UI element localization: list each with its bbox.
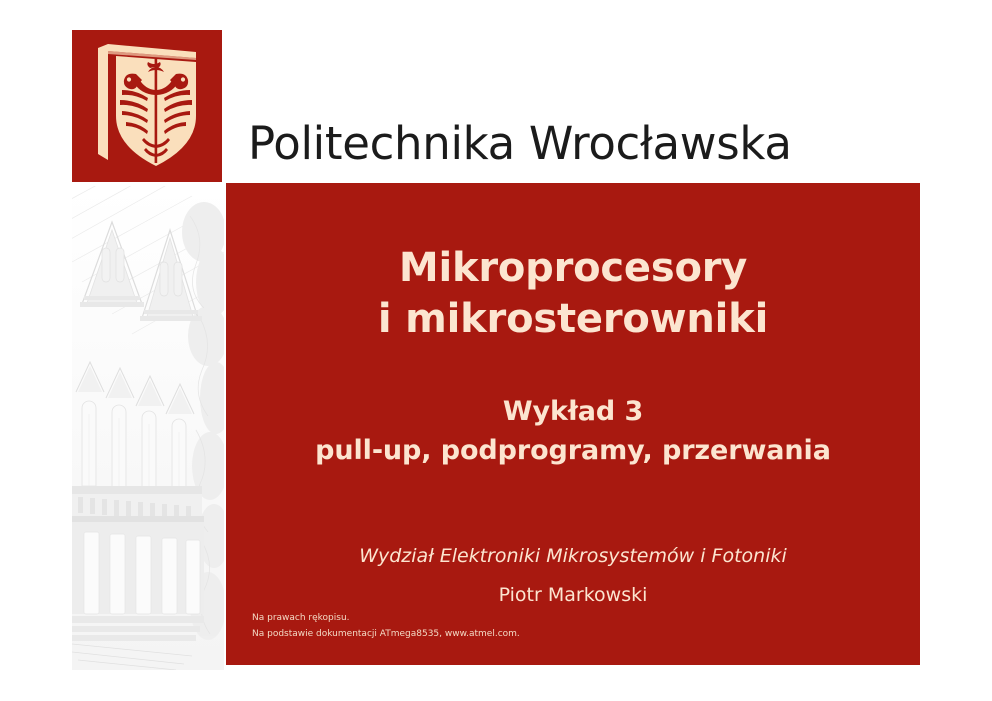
slide-content-panel: Mikroprocesory i mikrosterowniki Wykład … — [226, 183, 920, 665]
lecture-number: Wykład 3 — [226, 393, 920, 432]
slide-credits: Wydział Elektroniki Mikrosystemów i Foto… — [226, 545, 920, 607]
lecture-topics: pull-up, podprogramy, przerwania — [226, 432, 920, 471]
slide-subtitle: Wykład 3 pull-up, podprogramy, przerwani… — [226, 393, 920, 470]
presentation-slide: Politechnika Wrocławska Mikroprocesory i… — [0, 0, 992, 701]
main-building-watermark — [72, 186, 224, 670]
footnote-manuscript-rights: Na prawach rękopisu. — [252, 611, 752, 627]
university-name: Politechnika Wrocławska — [248, 121, 792, 166]
university-logo — [72, 30, 222, 182]
title-line-2: i mikrosterowniki — [226, 294, 920, 345]
slide-footnotes: Na prawach rękopisu. Na podstawie dokume… — [252, 611, 752, 643]
footnote-source-documentation: Na podstawie dokumentacji ATmega8535, ww… — [252, 627, 752, 643]
author-name: Piotr Markowski — [226, 584, 920, 607]
faculty-name: Wydział Elektroniki Mikrosystemów i Foto… — [226, 545, 920, 568]
title-line-1: Mikroprocesory — [226, 243, 920, 294]
slide-title: Mikroprocesory i mikrosterowniki — [226, 243, 920, 345]
